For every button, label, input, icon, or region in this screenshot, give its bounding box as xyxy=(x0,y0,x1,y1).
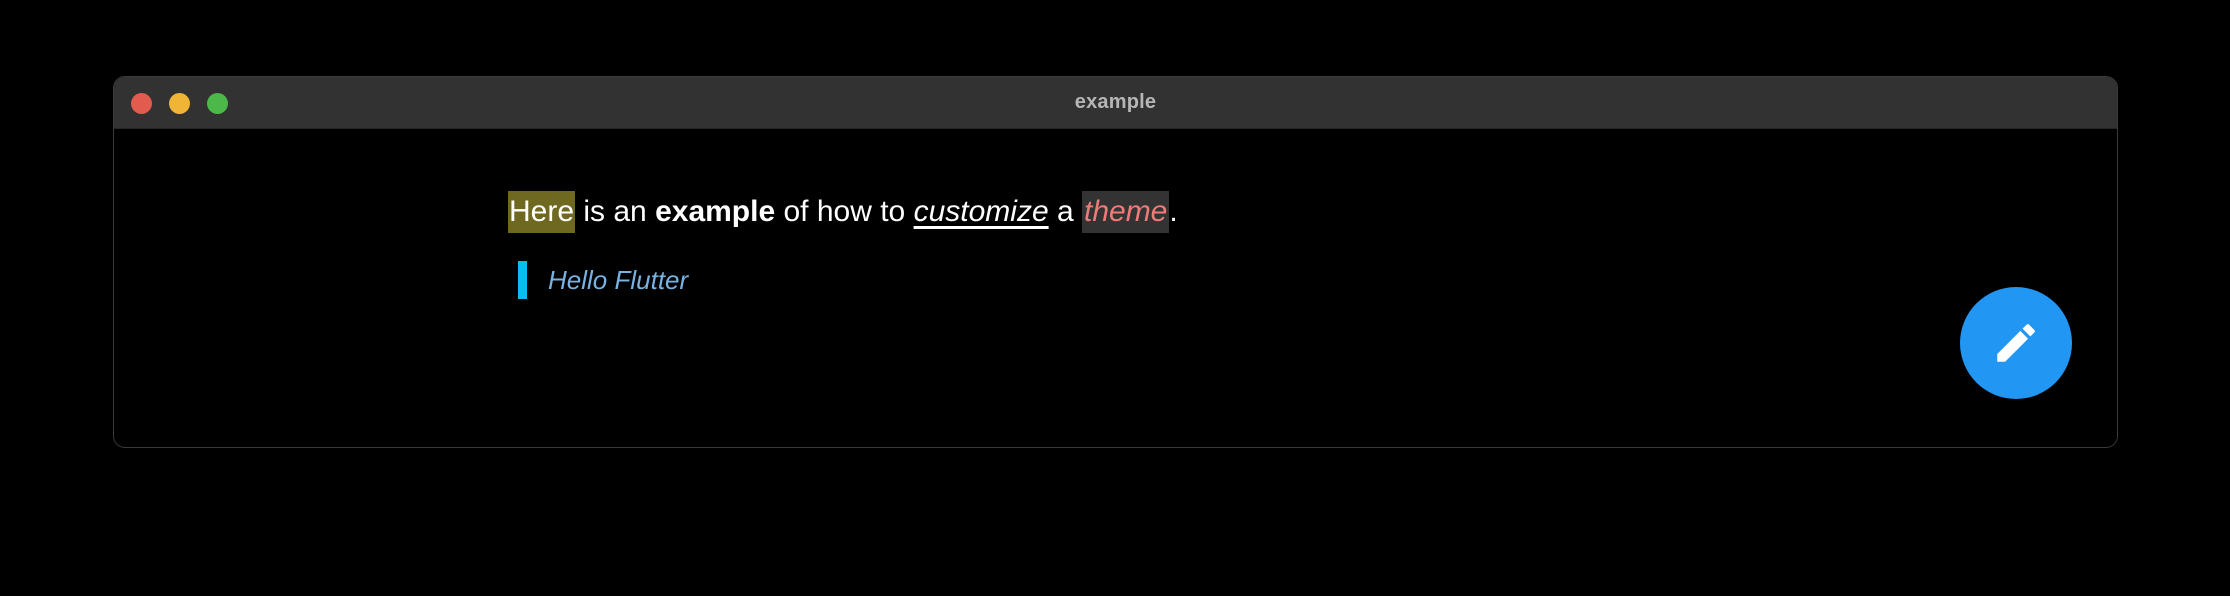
minimize-window-button[interactable] xyxy=(169,93,190,114)
blockquote: Hello Flutter xyxy=(518,261,688,299)
window-body: Here is an example of how to customize a… xyxy=(114,129,2117,447)
rich-text-segment-of-how-to: of how to xyxy=(775,195,913,228)
rich-text-segment-customize: customize xyxy=(914,195,1049,228)
blockquote-text: Hello Flutter xyxy=(548,261,688,299)
rich-text-paragraph: Here is an example of how to customize a… xyxy=(508,197,1178,227)
rich-text-segment-here: Here xyxy=(508,191,575,233)
rich-text-segment-period: . xyxy=(1169,195,1177,228)
window-title: example xyxy=(114,91,2117,114)
rich-text-segment-example: example xyxy=(655,195,775,228)
app-window: example Here is an example of how to cus… xyxy=(113,76,2118,448)
pencil-icon xyxy=(1991,318,2041,368)
edit-fab-button[interactable] xyxy=(1960,287,2072,399)
window-title-bar[interactable]: example xyxy=(114,77,2117,129)
rich-text-segment-is-an: is an xyxy=(575,195,655,228)
traffic-light-group xyxy=(131,77,228,129)
rich-text-segment-theme: theme xyxy=(1082,191,1169,233)
close-window-button[interactable] xyxy=(131,93,152,114)
maximize-window-button[interactable] xyxy=(207,93,228,114)
blockquote-accent-bar xyxy=(518,261,527,299)
rich-text-segment-a: a xyxy=(1049,195,1082,228)
